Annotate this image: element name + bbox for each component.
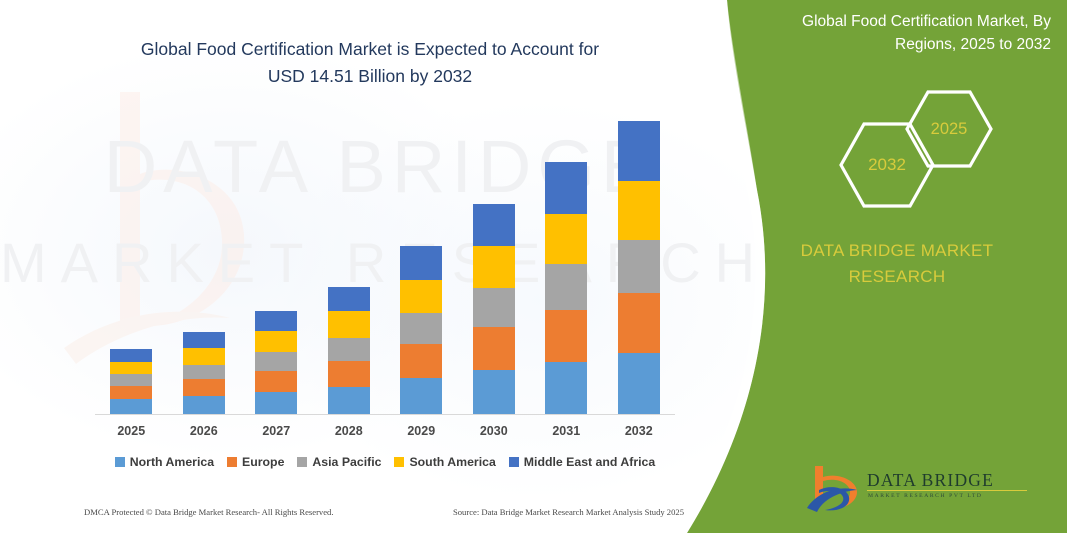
bar-segment xyxy=(328,287,370,311)
bar-segment xyxy=(328,338,370,361)
year-hexagons: 2025 2032 xyxy=(825,88,1005,203)
x-axis-label-2030: 2030 xyxy=(458,424,530,438)
stacked-bar[interactable] xyxy=(255,311,297,414)
logo-subtitle: MARKET RESEARCH PVT LTD xyxy=(868,493,983,499)
legend-swatch-icon xyxy=(297,457,307,467)
bar-segment xyxy=(618,293,660,353)
bar-segment xyxy=(618,121,660,182)
legend-item[interactable]: Middle East and Africa xyxy=(509,455,655,469)
bar-column xyxy=(240,311,312,414)
bar-segment xyxy=(473,327,515,370)
bar-segment xyxy=(545,264,587,310)
x-axis-line xyxy=(95,414,675,415)
stacked-bar[interactable] xyxy=(400,246,442,414)
stacked-bar[interactable] xyxy=(183,332,225,414)
bar-column xyxy=(313,287,385,414)
stacked-bar[interactable] xyxy=(328,287,370,414)
bar-segment xyxy=(400,313,442,343)
stacked-bar[interactable] xyxy=(545,162,587,414)
legend-swatch-icon xyxy=(509,457,519,467)
bar-segment xyxy=(400,280,442,314)
bar-segment xyxy=(328,387,370,414)
bar-series-container xyxy=(95,110,675,414)
footer-copyright: DMCA Protected © Data Bridge Market Rese… xyxy=(84,507,334,517)
x-axis-label-2028: 2028 xyxy=(313,424,385,438)
chart-legend: North AmericaEuropeAsia PacificSouth Ame… xyxy=(95,455,675,469)
legend-item[interactable]: South America xyxy=(394,455,495,469)
stacked-bar[interactable] xyxy=(473,204,515,414)
legend-label: Asia Pacific xyxy=(312,455,381,469)
x-axis-label-2032: 2032 xyxy=(603,424,675,438)
bar-segment xyxy=(545,362,587,414)
panel-title-line-2: Regions, 2025 to 2032 xyxy=(741,33,1051,56)
bar-column xyxy=(168,332,240,414)
bar-segment xyxy=(545,214,587,264)
bar-segment xyxy=(183,332,225,348)
green-panel-content: Global Food Certification Market, By Reg… xyxy=(727,0,1067,533)
stacked-bar[interactable] xyxy=(110,349,152,414)
bar-segment xyxy=(255,371,297,392)
green-side-panel: Global Food Certification Market, By Reg… xyxy=(687,0,1067,533)
legend-swatch-icon xyxy=(394,457,404,467)
company-logo: DATA BRIDGE MARKET RESEARCH PVT LTD xyxy=(745,460,1045,520)
chart-panel: DATA BRIDGE MARKET RESEARCH Global Food … xyxy=(0,0,760,533)
bar-segment xyxy=(183,379,225,396)
bar-segment xyxy=(618,353,660,414)
brand-line-1: DATA BRIDGE MARKET xyxy=(727,238,1067,264)
infographic-root: DATA BRIDGE MARKET RESEARCH Global Food … xyxy=(0,0,1067,533)
legend-item[interactable]: Asia Pacific xyxy=(297,455,381,469)
logo-divider xyxy=(867,490,1027,491)
legend-swatch-icon xyxy=(227,457,237,467)
stacked-bar[interactable] xyxy=(618,121,660,415)
bar-segment xyxy=(110,399,152,414)
bar-segment xyxy=(328,311,370,337)
brand-line-2: RESEARCH xyxy=(727,264,1067,290)
bar-segment xyxy=(255,331,297,352)
legend-item[interactable]: Europe xyxy=(227,455,284,469)
hexagon-start-year-label: 2025 xyxy=(931,120,968,139)
chart-title-line-2: USD 14.51 Billion by 2032 xyxy=(60,63,680,90)
bar-segment xyxy=(328,361,370,387)
legend-label: Europe xyxy=(242,455,284,469)
bar-segment xyxy=(400,246,442,280)
footer-source: Source: Data Bridge Market Research Mark… xyxy=(453,507,684,517)
bar-column xyxy=(95,349,167,414)
x-axis-label-2027: 2027 xyxy=(240,424,312,438)
data-bridge-logo-icon xyxy=(805,464,861,514)
logo-wordmark: DATA BRIDGE xyxy=(867,470,994,491)
bar-segment xyxy=(473,288,515,327)
x-axis-label-2031: 2031 xyxy=(530,424,602,438)
bar-column xyxy=(385,246,457,414)
bar-segment xyxy=(473,204,515,246)
bar-segment xyxy=(545,162,587,213)
x-axis-label-2025: 2025 xyxy=(95,424,167,438)
legend-swatch-icon xyxy=(115,457,125,467)
bar-segment xyxy=(110,349,152,362)
legend-label: Middle East and Africa xyxy=(524,455,655,469)
x-axis-label-2029: 2029 xyxy=(385,424,457,438)
bar-segment xyxy=(110,386,152,400)
bar-column xyxy=(530,162,602,414)
legend-label: North America xyxy=(130,455,214,469)
bar-segment xyxy=(110,362,152,375)
x-axis-label-2026: 2026 xyxy=(168,424,240,438)
x-axis-labels: 20252026202720282029203020312032 xyxy=(95,424,675,438)
chart-title: Global Food Certification Market is Expe… xyxy=(60,36,680,90)
bar-segment xyxy=(110,374,152,386)
legend-item[interactable]: North America xyxy=(115,455,214,469)
brand-name: DATA BRIDGE MARKET RESEARCH xyxy=(727,238,1067,291)
bar-segment xyxy=(473,370,515,414)
bar-segment xyxy=(545,310,587,361)
hexagon-end-year-label: 2032 xyxy=(868,155,906,175)
bar-column xyxy=(603,121,675,415)
footer: DMCA Protected © Data Bridge Market Rese… xyxy=(84,507,684,517)
bar-segment xyxy=(400,344,442,379)
bar-segment xyxy=(618,240,660,293)
bar-segment xyxy=(255,392,297,414)
plot-area xyxy=(95,110,675,415)
chart-title-line-1: Global Food Certification Market is Expe… xyxy=(60,36,680,63)
bar-column xyxy=(458,204,530,414)
legend-label: South America xyxy=(409,455,495,469)
panel-title: Global Food Certification Market, By Reg… xyxy=(741,10,1051,57)
bar-segment xyxy=(255,311,297,331)
bar-segment xyxy=(183,348,225,365)
bar-segment xyxy=(183,365,225,380)
bar-segment xyxy=(183,396,225,414)
panel-title-line-1: Global Food Certification Market, By xyxy=(741,10,1051,33)
hexagon-end-year: 2032 xyxy=(837,120,937,210)
bar-segment xyxy=(255,352,297,371)
bar-segment xyxy=(473,246,515,288)
bar-segment xyxy=(400,378,442,414)
bar-segment xyxy=(618,181,660,240)
